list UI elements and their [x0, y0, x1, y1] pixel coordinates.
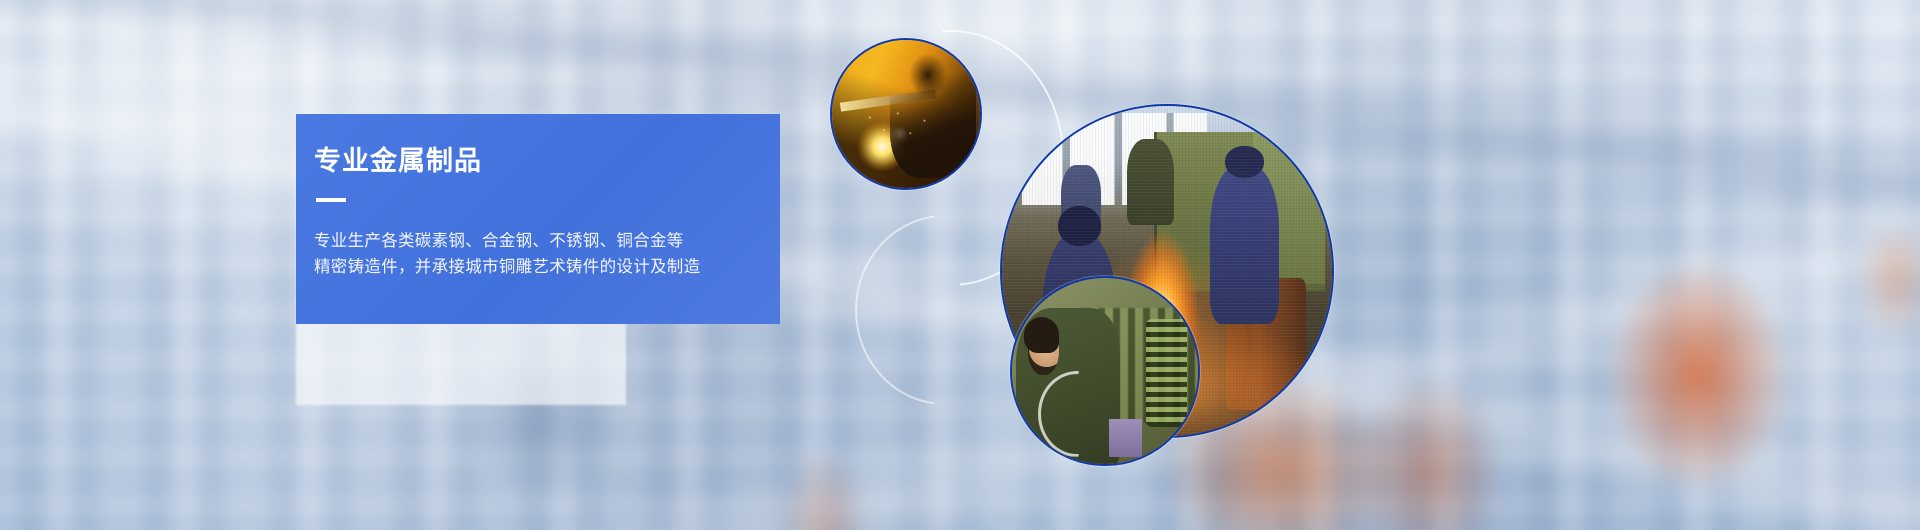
- promo-card: 专业金属制品 专业生产各类碳素钢、合金钢、不锈钢、铜合金等 精密铸造件，并承接城…: [296, 114, 780, 324]
- hero-banner: 专业金属制品 专业生产各类碳素钢、合金钢、不锈钢、铜合金等 精密铸造件，并承接城…: [0, 0, 1920, 530]
- promo-card-content: 专业金属制品 专业生产各类碳素钢、合金钢、不锈钢、铜合金等 精密铸造件，并承接城…: [296, 114, 780, 279]
- promo-description: 专业生产各类碳素钢、合金钢、不锈钢、铜合金等 精密铸造件，并承接城市铜雕艺术铸件…: [314, 228, 780, 279]
- page-title: 专业金属制品: [314, 148, 780, 175]
- title-divider: [316, 198, 346, 202]
- wax-worker-hair: [1024, 317, 1059, 352]
- photo-wax-image: [1012, 278, 1198, 464]
- promo-description-line-2: 精密铸造件，并承接城市铜雕艺术铸件的设计及制造: [314, 254, 780, 280]
- wax-mold-block: [1109, 419, 1142, 456]
- photo-circle-wax-assembly: [1010, 276, 1200, 466]
- welding-sparks-icon: [862, 102, 940, 154]
- photo-circle-welding: [830, 38, 982, 190]
- wax-tree: [1146, 319, 1187, 427]
- promo-description-line-1: 专业生产各类碳素钢、合金钢、不锈钢、铜合金等: [314, 228, 780, 254]
- photo-welding-image: [832, 40, 980, 188]
